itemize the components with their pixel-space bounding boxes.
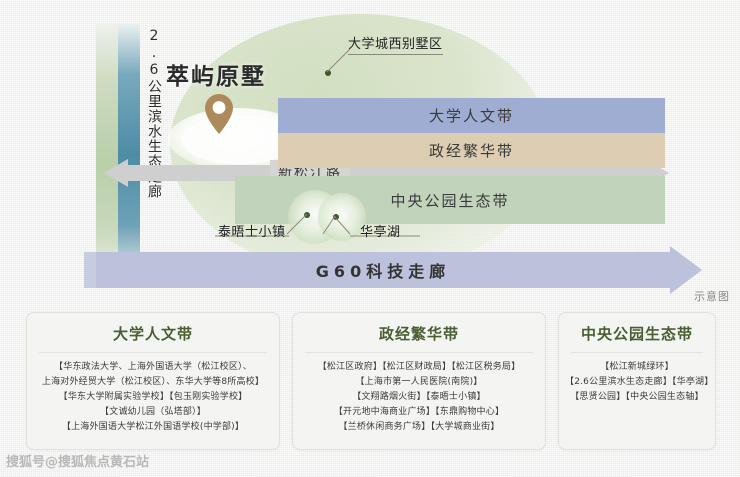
card-line: 【思贤公园】【中央公园生态轴】 bbox=[565, 390, 709, 405]
map-pin-icon bbox=[204, 93, 234, 139]
card-line: 【华东政法大学、上海外国语大学（松江校区）、 bbox=[33, 360, 273, 375]
card-line: 【文翔路烟火街】【泰晤士小镇】 bbox=[299, 390, 539, 405]
card-government-commerce: 政经繁华带 【松江区政府】【松江区财政局】【松江区税务局】 【上海市第一人民医院… bbox=[292, 312, 546, 450]
card-title: 中央公园生态带 bbox=[559, 313, 715, 352]
band-university-culture-label: 大学人文带 bbox=[278, 98, 665, 133]
g60-corridor-label: G60科技走廊 bbox=[96, 252, 670, 288]
band-government-commerce-label: 政经繁华带 bbox=[278, 133, 665, 168]
band-government-commerce: 政经繁华带 bbox=[278, 133, 665, 168]
card-line: 【2.6公里滨水生态走廊】【华亭湖】 bbox=[565, 375, 709, 390]
card-title: 政经繁华带 bbox=[293, 313, 545, 352]
card-line: 【上海市第一人民医院(南院)】 bbox=[299, 375, 539, 390]
road-bar-left bbox=[126, 165, 186, 181]
card-divider bbox=[39, 352, 267, 353]
card-line: 【华东大学附属实验学校】【包玉刚实验学校】 bbox=[33, 390, 273, 405]
road-arrow-left-icon bbox=[104, 159, 128, 187]
watermark-label: 搜狐号@搜狐焦点黄石站 bbox=[6, 451, 149, 470]
card-line: 【上海外国语大学松江外国语学校(中学部)】 bbox=[33, 420, 273, 435]
card-line: 【开元地中海商业广场】【东鼎购物中心】 bbox=[299, 405, 539, 420]
card-divider bbox=[571, 352, 703, 353]
card-line: 【文诚幼儿园（弘塔部）】 bbox=[33, 405, 273, 420]
annotation-leader-villa bbox=[325, 45, 355, 75]
schematic-note: 示意图 bbox=[694, 288, 730, 304]
schematic-diagram: 2.6公里滨水生态走廊 萃屿原墅 大学城西别墅区 新松江路 大学人文带 政经繁华… bbox=[0, 0, 740, 305]
card-line: 【松江区政府】【松江区财政局】【松江区税务局】 bbox=[299, 360, 539, 375]
card-line: 【松江新城绿环】 bbox=[565, 360, 709, 375]
card-university-culture: 大学人文带 【华东政法大学、上海外国语大学（松江校区）、 上海对外经贸大学（松江… bbox=[26, 312, 280, 450]
annotation-villa-district: 大学城西别墅区 bbox=[348, 33, 443, 55]
card-divider bbox=[305, 352, 533, 353]
card-body: 【松江新城绿环】 【2.6公里滨水生态走廊】【华亭湖】 【思贤公园】【中央公园生… bbox=[559, 360, 715, 405]
card-line: 【兰桥休闲商务广场】【大学城商业街】 bbox=[299, 420, 539, 435]
project-name-label: 萃屿原墅 bbox=[166, 57, 266, 91]
g60-corridor-band: G60科技走廊 bbox=[96, 252, 670, 288]
card-line: 上海对外经贸大学（松江校区）、东华大学等8所高校】 bbox=[33, 375, 273, 390]
band-university-culture: 大学人文带 bbox=[278, 98, 665, 133]
card-title: 大学人文带 bbox=[27, 313, 279, 352]
g60-arrow-right-icon bbox=[670, 246, 702, 294]
green-vertical-strip bbox=[96, 24, 118, 276]
card-body: 【松江区政府】【松江区财政局】【松江区税务局】 【上海市第一人民医院(南院)】 … bbox=[293, 360, 545, 435]
poi-label-thames-town: 泰晤士小镇 bbox=[218, 221, 286, 240]
poi-label-huating-lake: 华亭湖 bbox=[360, 221, 401, 240]
info-cards-row: 大学人文带 【华东政法大学、上海外国语大学（松江校区）、 上海对外经贸大学（松江… bbox=[0, 312, 740, 452]
card-body: 【华东政法大学、上海外国语大学（松江校区）、 上海对外经贸大学（松江校区）、东华… bbox=[27, 360, 279, 435]
card-central-park-eco: 中央公园生态带 【松江新城绿环】 【2.6公里滨水生态走廊】【华亭湖】 【思贤公… bbox=[558, 312, 716, 450]
